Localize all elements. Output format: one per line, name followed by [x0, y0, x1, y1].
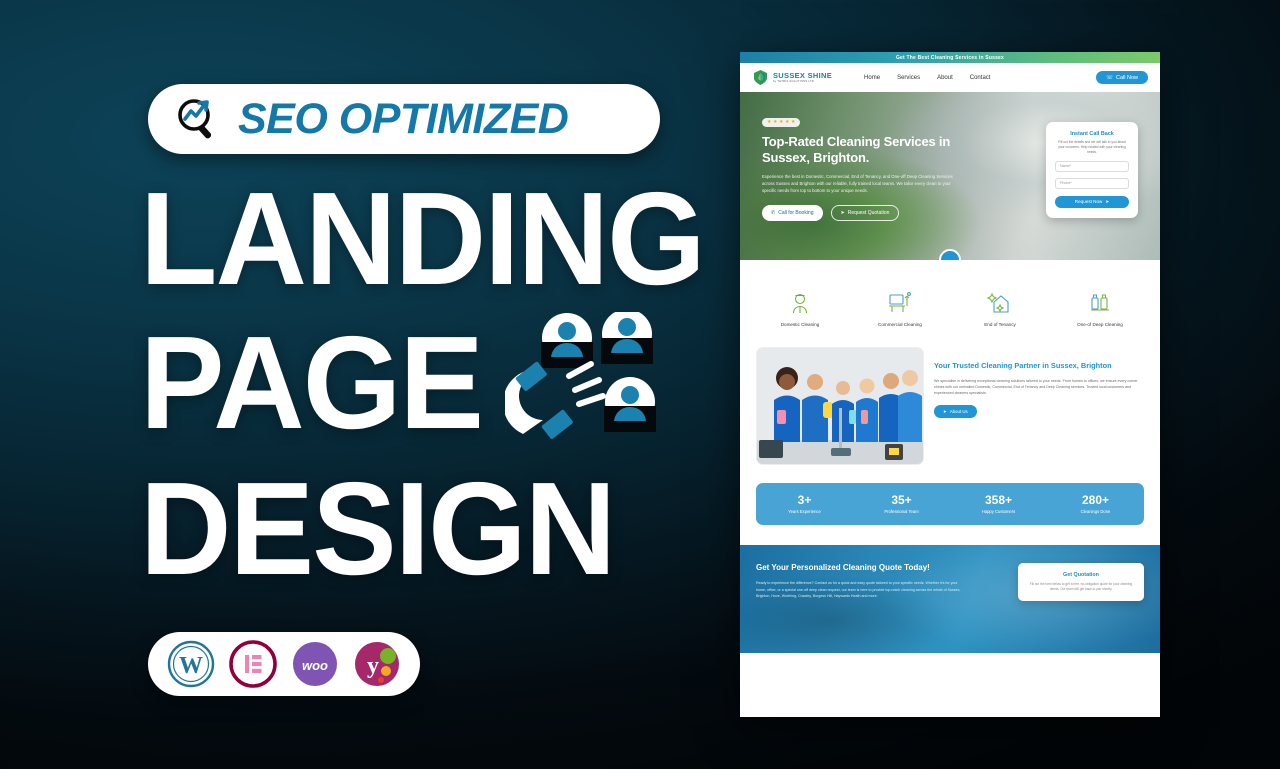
headline-line-1: LANDING	[140, 178, 704, 299]
about-paragraph: We specialise in delivering exceptional …	[934, 378, 1144, 396]
hero-buttons: ✆ Call for Booking ➤ Request Quotation	[762, 205, 962, 221]
stat-item: 280+ Cleanings Done	[1047, 494, 1144, 514]
instant-callback-form[interactable]: Instant Call Back Fill out the details a…	[1046, 122, 1138, 218]
arrow-right-icon: ➤	[943, 409, 947, 415]
star-icon: ★	[773, 120, 777, 125]
chevron-down-icon: ⌄	[947, 256, 954, 261]
service-item[interactable]: End of Tenancy	[956, 290, 1044, 327]
hero-title: Top-Rated Cleaning Services in Sussex, B…	[762, 134, 962, 166]
about-section: Your Trusted Cleaning Partner in Sussex,…	[740, 343, 1160, 465]
quotation-card-title: Get Quotation	[1027, 572, 1135, 578]
stat-item: 3+ Years Experience	[756, 494, 853, 514]
cleaning-team-photo	[756, 347, 924, 465]
arrow-right-icon: ➤	[841, 210, 845, 216]
seo-magnifier-chart-icon	[174, 96, 224, 142]
callback-name-field[interactable]: Name*	[1055, 161, 1129, 172]
headline-line-3: DESIGN	[140, 468, 614, 589]
hero-content: ★ ★ ★ ★ ★ Top-Rated Cleaning Services in…	[762, 118, 962, 221]
stat-item: 358+ Happy Customers	[950, 494, 1047, 514]
callback-subtitle: Fill out the details and we will talk to…	[1055, 140, 1129, 155]
services-row: Domestic Cleaning Commercial Cleaning En…	[740, 260, 1160, 343]
nav-item-home[interactable]: Home	[864, 75, 880, 81]
service-item[interactable]: Commercial Cleaning	[856, 290, 944, 327]
service-item[interactable]: One-of Deep Cleaning	[1056, 290, 1144, 327]
nav-links: Home Services About Contact	[864, 75, 990, 81]
house-cleaner-icon	[756, 290, 844, 316]
seo-badge-label: SEO OPTIMIZED	[238, 95, 568, 144]
headline-line-2: PAGE	[140, 322, 482, 443]
call-for-booking-label: Call for Booking	[778, 210, 813, 216]
star-icon: ★	[767, 120, 771, 125]
star-icon: ★	[785, 120, 789, 125]
service-label: One-of Deep Cleaning	[1056, 322, 1144, 327]
callback-phone-field[interactable]: Phone*	[1055, 178, 1129, 189]
svg-text:W: W	[179, 653, 203, 679]
service-label: End of Tenancy	[956, 322, 1044, 327]
nav-item-services[interactable]: Services	[897, 75, 920, 81]
lead-magnet-icon	[505, 312, 665, 442]
nav-item-about[interactable]: About	[937, 75, 953, 81]
stat-value: 280+	[1047, 494, 1144, 506]
stat-item: 35+ Professional Team	[853, 494, 950, 514]
call-for-booking-button[interactable]: ✆ Call for Booking	[762, 205, 823, 221]
site-navbar: SHINE SUSSEX SHINE by TETRIS SOLUTIONS L…	[740, 63, 1160, 92]
stat-label: Years Experience	[756, 509, 853, 514]
cta-paragraph: Ready to experience the difference? Cont…	[756, 580, 966, 598]
spray-bottle-icon	[1056, 290, 1144, 316]
service-label: Domestic Cleaning	[756, 322, 844, 327]
about-title: Your Trusted Cleaning Partner in Sussex,…	[934, 361, 1144, 371]
callback-submit-button[interactable]: Request Now ➤	[1055, 196, 1129, 208]
wordpress-logo: W	[167, 640, 215, 688]
announcement-bar: Get The Best Cleaning Services in Sussex	[740, 52, 1160, 63]
callback-title: Instant Call Back	[1055, 131, 1129, 137]
plugin-logos-badge: W woo y	[148, 632, 420, 696]
office-desk-icon	[856, 290, 944, 316]
about-us-label: About Us	[950, 409, 968, 414]
stat-value: 358+	[950, 494, 1047, 506]
stat-label: Happy Customers	[950, 509, 1047, 514]
sparkle-house-icon	[956, 290, 1044, 316]
request-quotation-label: Request Quotation	[848, 210, 890, 216]
callback-submit-label: Request Now	[1075, 199, 1103, 204]
leaf-shield-icon	[752, 69, 769, 86]
seo-optimized-badge: SEO OPTIMIZED	[148, 84, 660, 154]
site-logo[interactable]: SHINE SUSSEX SHINE by TETRIS SOLUTIONS L…	[752, 69, 832, 86]
about-us-button[interactable]: ➤ About Us	[934, 405, 977, 418]
cta-section: Get Your Personalized Cleaning Quote Tod…	[740, 545, 1160, 653]
nav-item-contact[interactable]: Contact	[970, 75, 991, 81]
call-now-label: Call Now	[1116, 75, 1138, 81]
stat-value: 3+	[756, 494, 853, 506]
service-label: Commercial Cleaning	[856, 322, 944, 327]
hero-section: ★ ★ ★ ★ ★ Top-Rated Cleaning Services in…	[740, 92, 1160, 260]
elementor-logo	[229, 640, 277, 688]
stats-bar: 3+ Years Experience 35+ Professional Tea…	[756, 483, 1144, 525]
headset-icon: ☏	[1106, 75, 1113, 81]
request-quotation-button[interactable]: ➤ Request Quotation	[831, 205, 900, 221]
star-icon: ★	[779, 120, 783, 125]
svg-text:woo: woo	[302, 658, 328, 673]
stat-label: Cleanings Done	[1047, 509, 1144, 514]
rating-stars: ★ ★ ★ ★ ★	[762, 118, 800, 127]
cta-title: Get Your Personalized Cleaning Quote Tod…	[756, 563, 966, 573]
website-mockup: Get The Best Cleaning Services in Sussex…	[740, 52, 1160, 717]
yoast-seo-logo: y	[353, 640, 401, 688]
quotation-card-paragraph: Fill out the form below to get a free, n…	[1027, 582, 1135, 592]
service-item[interactable]: Domestic Cleaning	[756, 290, 844, 327]
star-icon: ★	[791, 120, 795, 125]
arrow-right-icon: ➤	[1105, 199, 1109, 205]
woocommerce-logo: woo	[291, 640, 339, 688]
call-now-button[interactable]: ☏ Call Now	[1096, 71, 1148, 84]
hero-paragraph: Experience the best in Domestic, Commerc…	[762, 173, 962, 194]
poster-left-column: SEO OPTIMIZED LANDING PAGE DESIGN	[0, 0, 720, 769]
stat-value: 35+	[853, 494, 950, 506]
phone-icon: ✆	[771, 210, 775, 216]
svg-text:y: y	[367, 653, 379, 679]
get-quotation-card[interactable]: Get Quotation Fill out the form below to…	[1018, 563, 1144, 601]
stat-label: Professional Team	[853, 509, 950, 514]
